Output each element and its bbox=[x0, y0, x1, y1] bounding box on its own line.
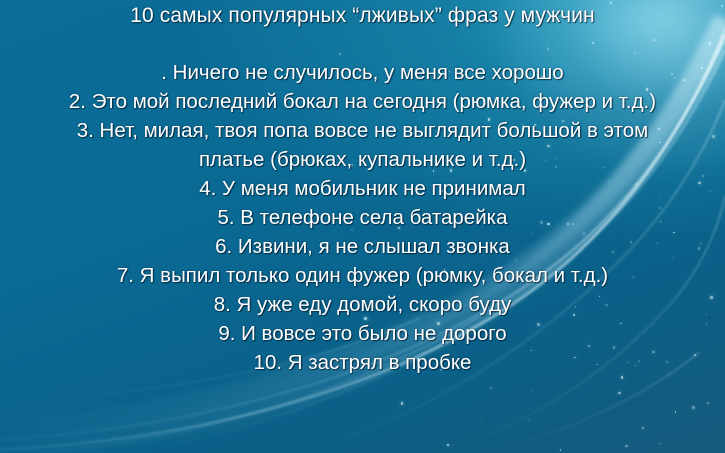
slide-text-layer: 10 самых популярных “лживых” фраз у мужч… bbox=[0, 0, 725, 453]
slide-line-item-1: . Ничего не случилось, у меня все хорошо bbox=[0, 58, 725, 87]
slide-line-item-2: 2. Это мой последний бокал на сегодня (р… bbox=[63, 87, 663, 116]
slide-line-item-10: 10. Я застрял в пробке bbox=[0, 348, 725, 377]
slide-line-item-7: 7. Я выпил только один фужер (рюмку, бок… bbox=[0, 261, 725, 290]
slide-body-list: . Ничего не случилось, у меня все хорошо… bbox=[0, 58, 725, 377]
slide-line-item-5: 5. В телефоне села батарейка bbox=[0, 203, 725, 232]
slide-line-item-3: 3. Нет, милая, твоя попа вовсе не выгляд… bbox=[63, 116, 663, 174]
slide-title: 10 самых популярных “лживых” фраз у мужч… bbox=[0, 3, 725, 29]
slide-line-item-4: 4. У меня мобильник не принимал bbox=[0, 174, 725, 203]
slide-line-item-8: 8. Я уже еду домой, скоро буду bbox=[0, 290, 725, 319]
presentation-slide: 10 самых популярных “лживых” фраз у мужч… bbox=[0, 0, 725, 453]
slide-line-item-6: 6. Извини, я не слышал звонка bbox=[0, 232, 725, 261]
slide-line-item-9: 9. И вовсе это было не дорого bbox=[0, 319, 725, 348]
